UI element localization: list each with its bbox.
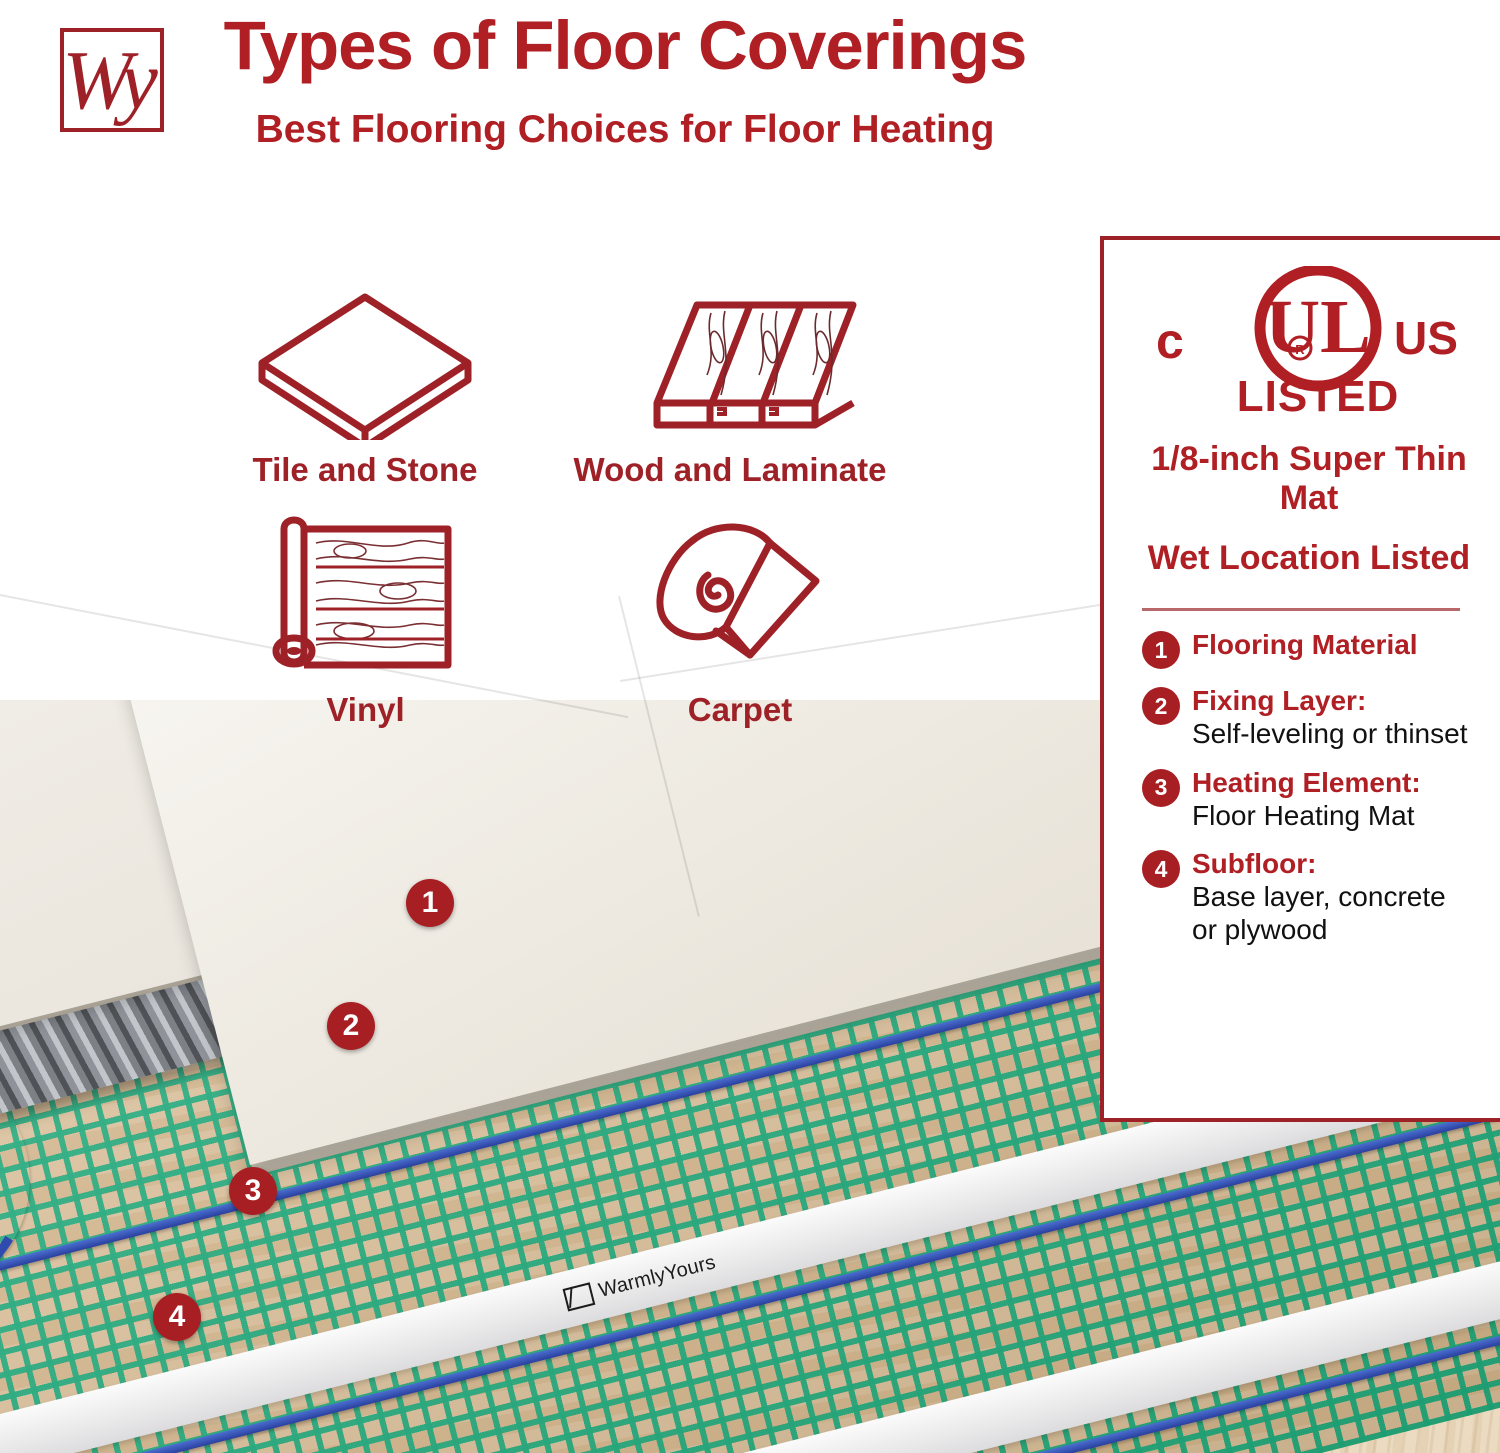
legend-number-badge: 2 bbox=[1142, 687, 1180, 725]
legend-desc: Self-leveling or thinset bbox=[1192, 718, 1467, 751]
flooring-type-tile-and-stone: Tile and Stone bbox=[250, 285, 480, 489]
legend-item-4: 4 Subfloor: Base layer, concrete or plyw… bbox=[1142, 848, 1476, 946]
carpet-roll-icon bbox=[620, 515, 860, 680]
panel-heading-thin-mat: 1/8-inch Super Thin Mat bbox=[1142, 440, 1476, 519]
flooring-type-label: Wood and Laminate bbox=[565, 451, 895, 489]
legend-title: Subfloor: bbox=[1192, 848, 1476, 881]
infographic-canvas: WarmlyYours WarmlyYours WarmlyYours bbox=[0, 0, 1500, 1453]
legend-desc: Base layer, concrete or plywood bbox=[1192, 881, 1476, 947]
flooring-type-wood-and-laminate: Wood and Laminate bbox=[565, 285, 895, 489]
legend-number-badge: 4 bbox=[1142, 850, 1180, 888]
svg-text:c: c bbox=[1156, 313, 1184, 369]
scene-badge-3: 3 bbox=[229, 1167, 277, 1215]
legend-number-badge: 3 bbox=[1142, 769, 1180, 807]
legend-number-badge: 1 bbox=[1142, 631, 1180, 669]
vinyl-roll-icon bbox=[258, 505, 473, 680]
panel-heading-wet-location: Wet Location Listed bbox=[1142, 539, 1476, 578]
header: Wy Types of Floor Coverings Best Floorin… bbox=[0, 0, 1500, 190]
legend-item-2: 2 Fixing Layer: Self-leveling or thinset bbox=[1142, 685, 1476, 751]
legend-title: Fixing Layer: bbox=[1192, 685, 1467, 718]
wy-logo-icon bbox=[562, 1282, 595, 1311]
legend-desc: Floor Heating Mat bbox=[1192, 800, 1421, 833]
ul-listed-mark: c UL R US LISTED bbox=[1142, 266, 1476, 418]
legend-item-3: 3 Heating Element: Floor Heating Mat bbox=[1142, 767, 1476, 833]
scene-badge-2: 2 bbox=[327, 1002, 375, 1050]
page-subtitle: Best Flooring Choices for Floor Heating bbox=[0, 108, 1250, 152]
legend-text: Subfloor: Base layer, concrete or plywoo… bbox=[1192, 848, 1476, 946]
legend-item-1: 1 Flooring Material bbox=[1142, 629, 1476, 669]
flooring-type-label: Tile and Stone bbox=[250, 451, 480, 489]
legend-text: Heating Element: Floor Heating Mat bbox=[1192, 767, 1421, 833]
cul-us-listed-icon: c UL R US LISTED bbox=[1142, 266, 1494, 418]
page-title: Types of Floor Coverings bbox=[0, 6, 1250, 85]
legend-title: Heating Element: bbox=[1192, 767, 1421, 800]
wood-and-laminate-icon bbox=[565, 285, 895, 440]
legend-title: Flooring Material bbox=[1192, 629, 1418, 662]
panel-divider bbox=[1142, 608, 1460, 611]
svg-text:UL: UL bbox=[1265, 285, 1371, 369]
svg-text:R: R bbox=[1295, 342, 1305, 357]
flooring-type-carpet: Carpet bbox=[620, 515, 860, 729]
tape-label-text: WarmlyYours bbox=[596, 1251, 718, 1303]
layer-legend-list: 1 Flooring Material 2 Fixing Layer: Self… bbox=[1142, 629, 1476, 946]
legend-text: Flooring Material bbox=[1192, 629, 1418, 662]
scene-badge-4: 4 bbox=[153, 1293, 201, 1341]
flooring-type-vinyl: Vinyl bbox=[258, 505, 473, 729]
flooring-type-label: Carpet bbox=[620, 691, 860, 729]
tile-and-stone-icon bbox=[250, 285, 480, 440]
legend-text: Fixing Layer: Self-leveling or thinset bbox=[1192, 685, 1467, 751]
ul-info-panel: c UL R US LISTED 1/8-inch Super Thin Mat… bbox=[1100, 236, 1500, 1122]
svg-text:US: US bbox=[1394, 312, 1458, 364]
flooring-type-label: Vinyl bbox=[258, 691, 473, 729]
scene-badge-1: 1 bbox=[406, 879, 454, 927]
svg-text:LISTED: LISTED bbox=[1237, 372, 1399, 418]
